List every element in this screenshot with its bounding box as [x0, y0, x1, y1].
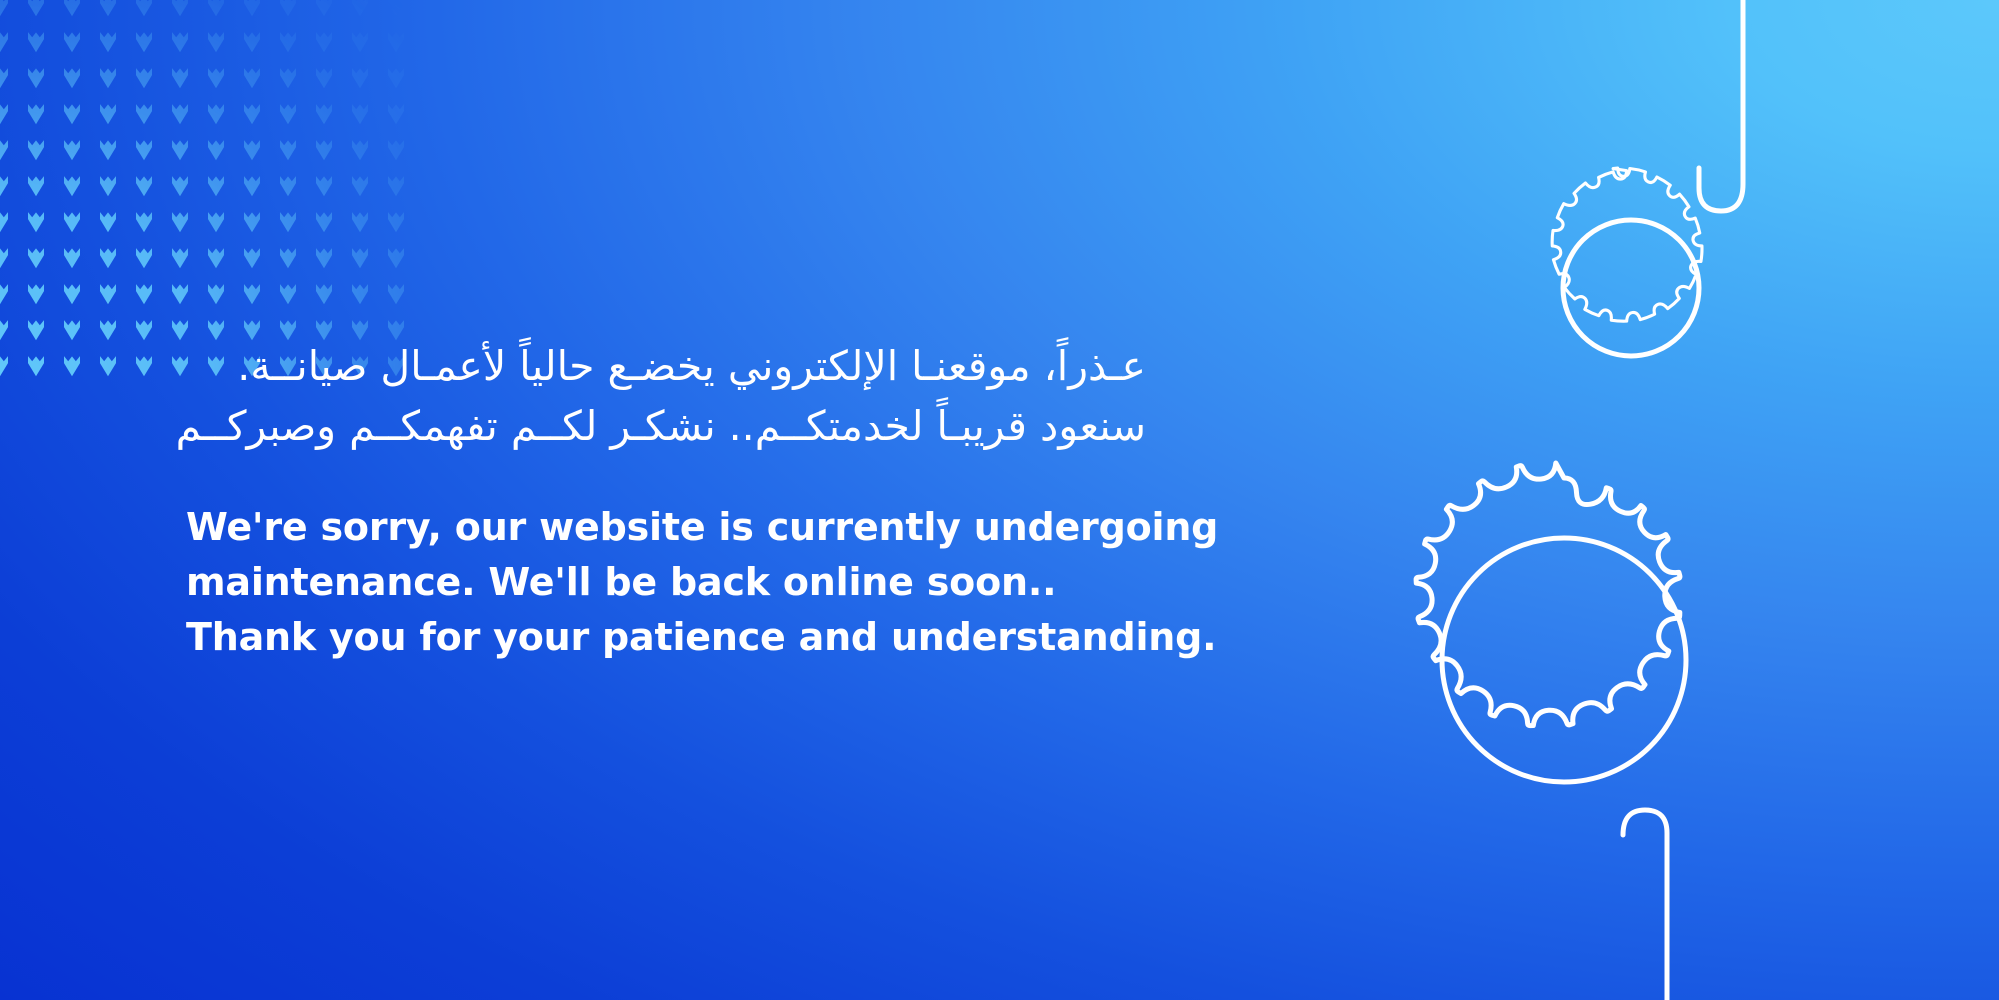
message-text-block: عـذراً، موقعنـا الإلكتروني يخضـع حالياً … [186, 336, 1246, 665]
arabic-message: عـذراً، موقعنـا الإلكتروني يخضـع حالياً … [186, 336, 1146, 456]
english-line-1: We're sorry, our website is currently un… [186, 500, 1246, 555]
gears-illustration [1299, 0, 1999, 1000]
english-line-2: maintenance. We'll be back online soon.. [186, 555, 1246, 610]
gear-small-inner-circle [1563, 220, 1699, 356]
gear-large-inner-circle [1442, 538, 1686, 782]
english-line-3: Thank you for your patience and understa… [186, 610, 1246, 665]
connector-line-bottom [1623, 810, 1667, 1000]
arabic-line-2: سنعود قريبـاً لخدمتكــم.. نشكـر لكــم تف… [186, 396, 1146, 456]
maintenance-page: عـذراً، موقعنـا الإلكتروني يخضـع حالياً … [0, 0, 1999, 1000]
connector-line-top [1699, 0, 1743, 211]
arabic-line-1: عـذراً، موقعنـا الإلكتروني يخضـع حالياً … [186, 336, 1146, 396]
english-message: We're sorry, our website is currently un… [186, 500, 1246, 665]
gear-large-body [1416, 463, 1680, 726]
gear-small-body [1552, 168, 1702, 321]
